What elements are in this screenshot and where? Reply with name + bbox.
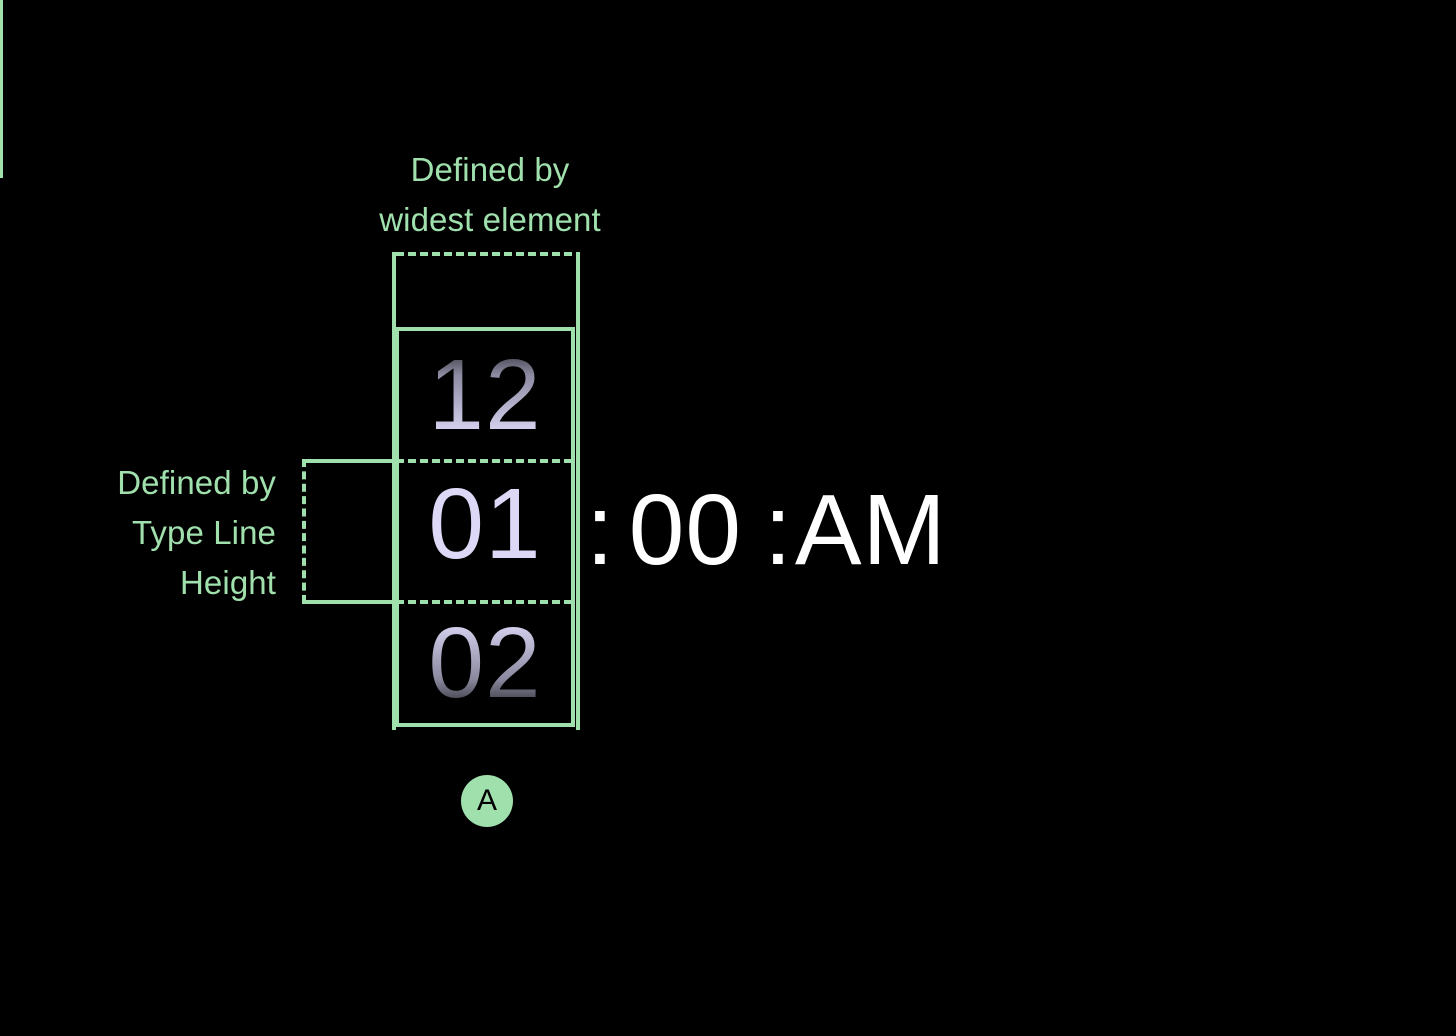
measure-bracket-spine [302,459,306,603]
measure-bracket-arm-bottom [302,600,396,604]
hour-option-next[interactable]: 02 [395,599,575,727]
minutes-value[interactable]: 00 [629,466,742,594]
meridiem-value[interactable]: AM [795,466,947,594]
guide-column-right-edge [576,252,580,730]
spec-canvas: Defined by widest element Defined by Typ… [0,0,1456,1036]
hour-picker-reel[interactable]: 12 01 02 [395,327,575,727]
callout-badge-a: A [461,775,513,827]
hour-option-selected[interactable]: 01 [395,460,575,601]
hour-option-previous[interactable]: 12 [395,331,575,459]
time-separator-minutes-meridiem: : [742,466,795,594]
annotation-type-line-height: Defined by Type Line Height [20,458,276,608]
measure-bracket-arm-top [302,459,396,463]
guide-column-top-dashed [396,252,572,256]
time-readout: : 00 : AM [586,466,947,594]
annotation-widest-element: Defined by widest element [270,145,710,245]
time-separator-hours-minutes: : [586,466,629,594]
callout-leader-line [0,0,3,178]
